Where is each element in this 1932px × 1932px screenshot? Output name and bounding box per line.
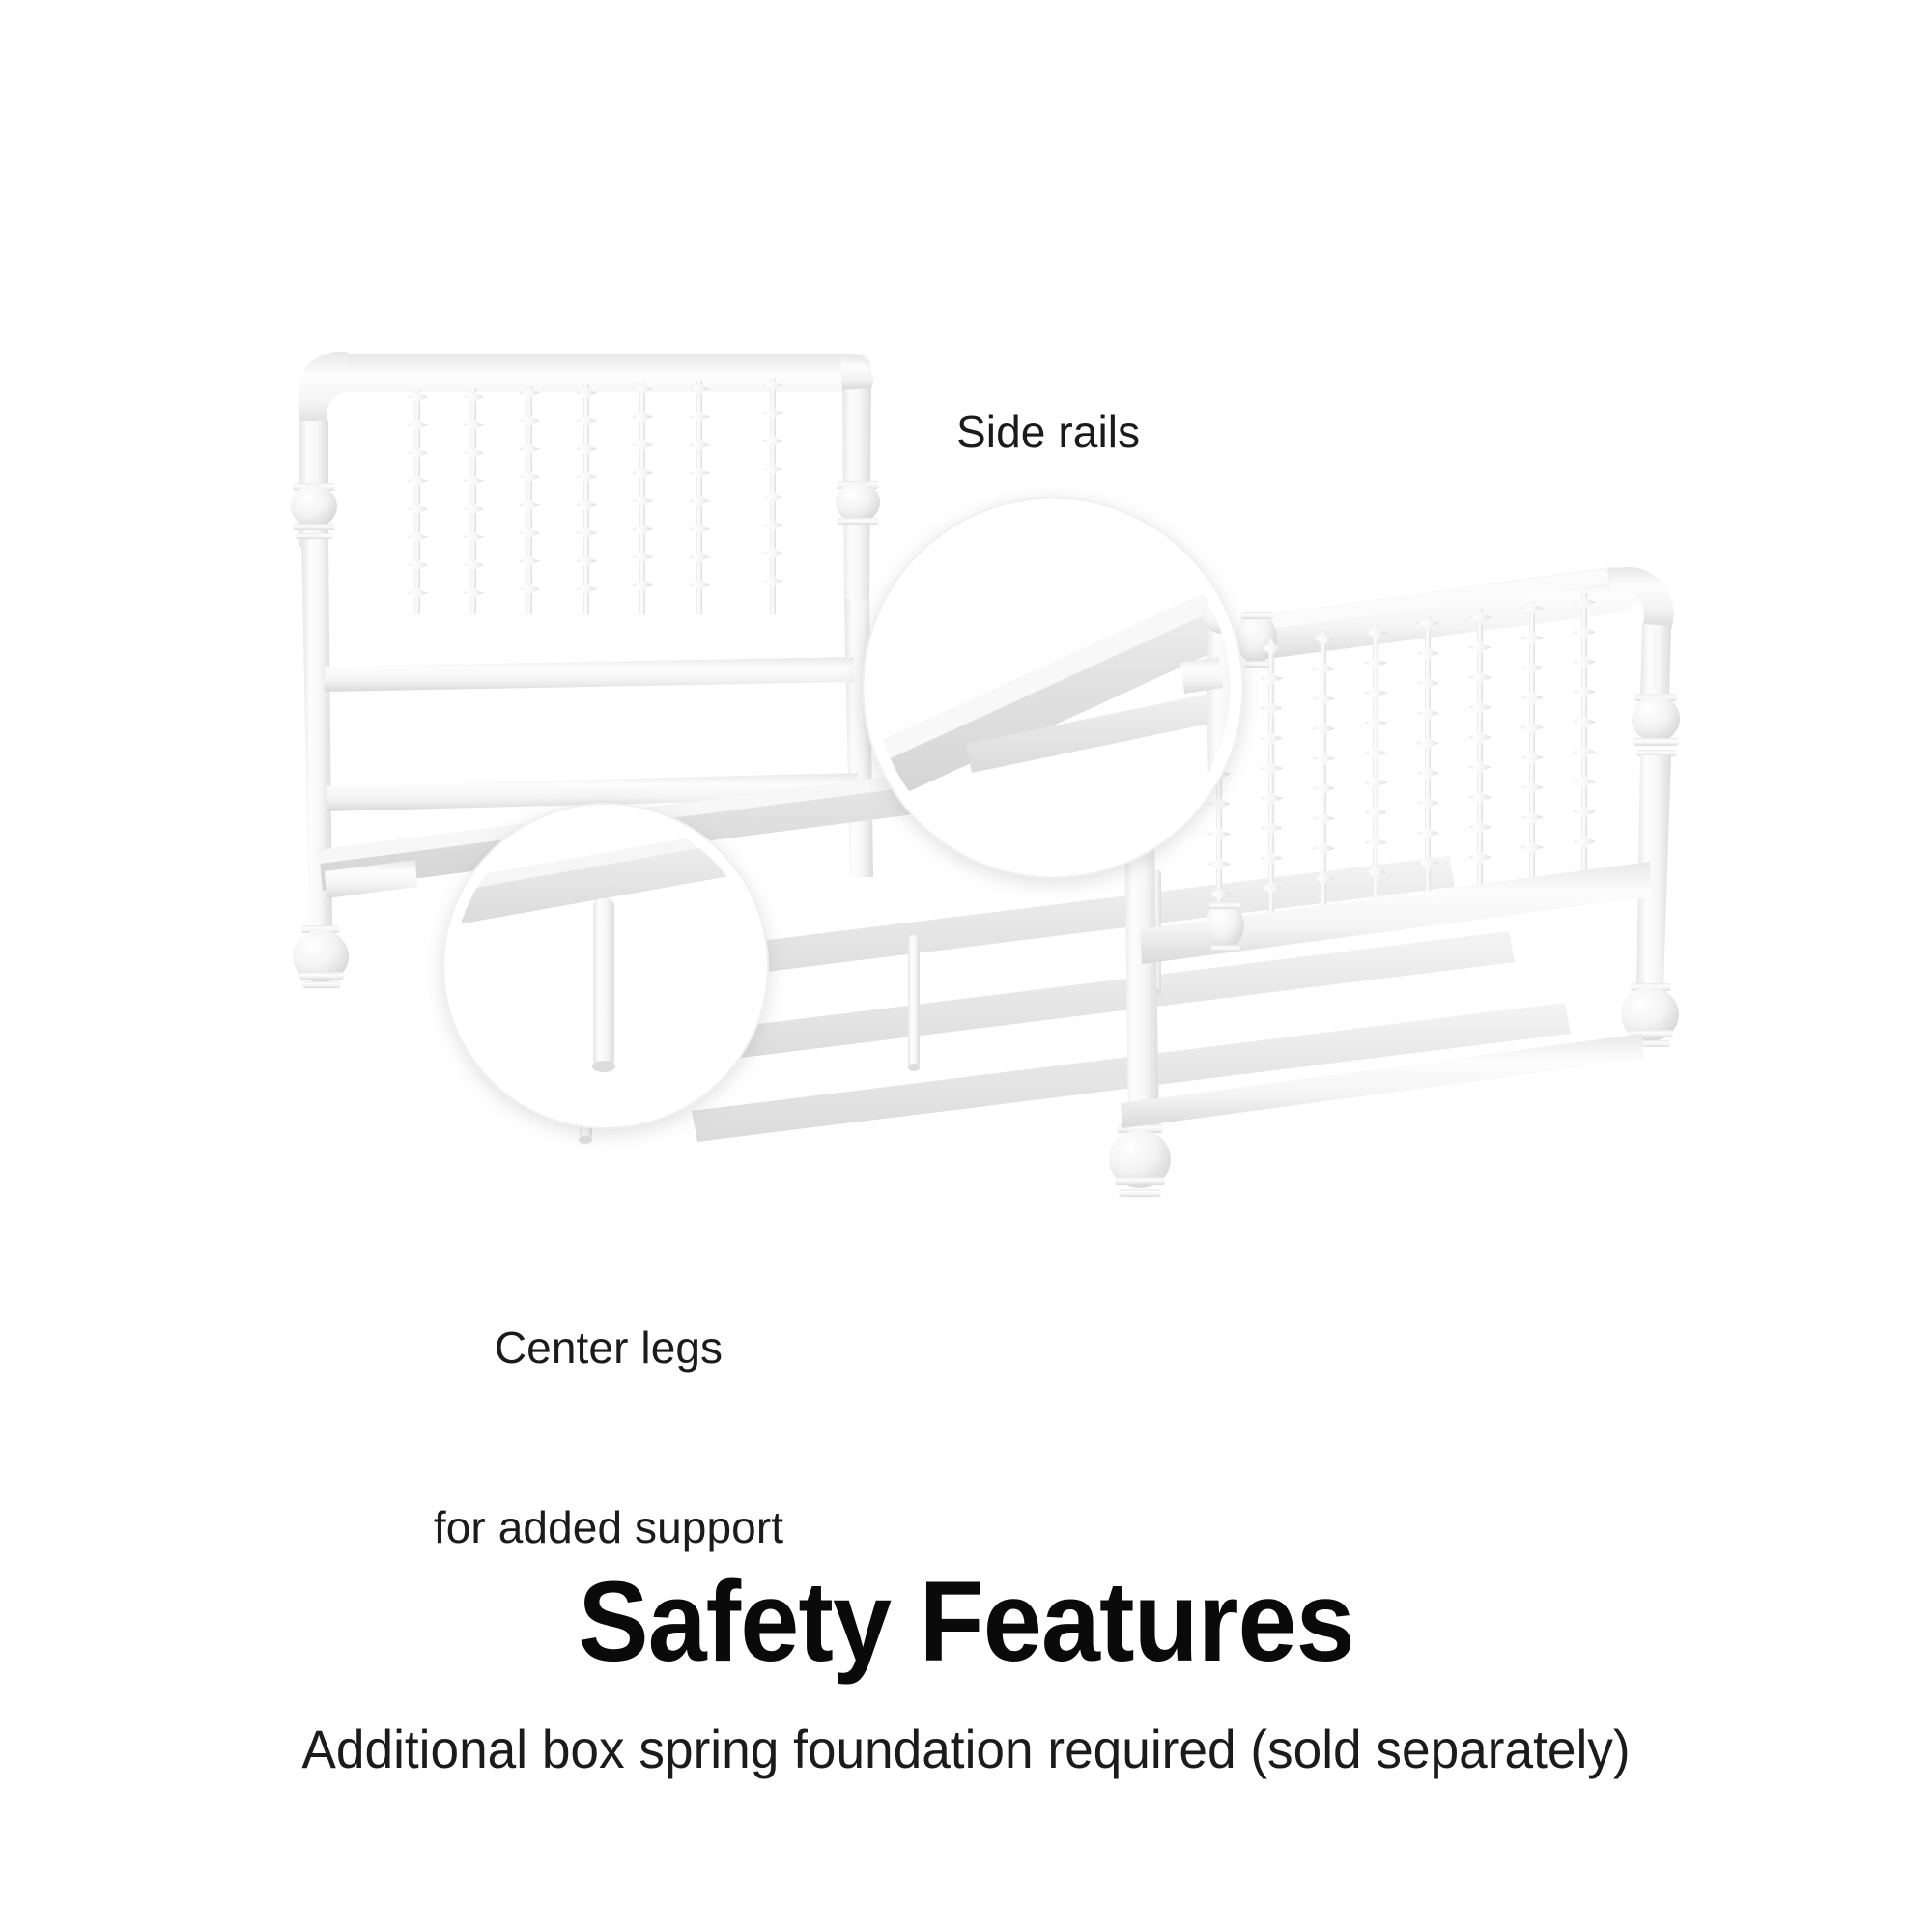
callout-label-center-legs-line1: Center legs: [319, 1318, 898, 1378]
infographic-canvas: Side rails Center legs for added support…: [0, 0, 1932, 1932]
product-illustration: [0, 0, 1932, 1507]
callout-label-side-rails: Side rails: [956, 404, 1140, 460]
headboard-upper-crossrail: [325, 657, 854, 692]
headboard-right-collar: [836, 481, 880, 525]
magnifier-center-legs: [443, 804, 779, 1128]
footboard-post-collar: [1632, 694, 1680, 756]
magnifier-side-rails: [864, 498, 1245, 878]
callout-label-center-legs-line2: for added support: [319, 1497, 898, 1557]
footboard-left-foot: [1109, 1124, 1171, 1197]
headboard-left-foot: [293, 925, 349, 988]
caption-block: Safety Features Additional box spring fo…: [0, 1565, 1932, 1779]
page-title: Safety Features: [68, 1565, 1864, 1679]
headboard-spindles: [407, 379, 783, 614]
bed-frame-drawing: [0, 0, 1932, 1507]
page-subtitle: Additional box spring foundation require…: [48, 1719, 1884, 1779]
